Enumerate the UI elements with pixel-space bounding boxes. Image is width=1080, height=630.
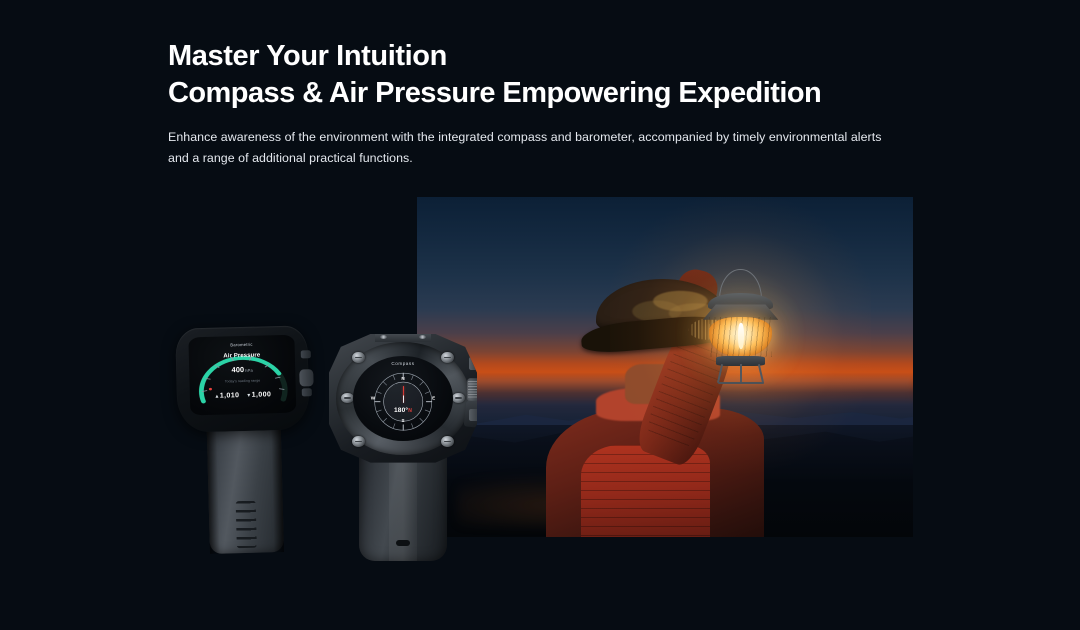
feature-banner: Master Your Intuition Compass & Air Pres… — [0, 0, 1080, 630]
barometer-watch-button-bottom — [301, 388, 312, 397]
copy-block: Master Your Intuition Compass & Air Pres… — [168, 42, 928, 170]
compass-watch-screen: Compass — [353, 356, 454, 441]
barometer-range-low: 1,000 — [252, 391, 272, 399]
compass-needle — [403, 386, 405, 403]
compass-cardinal-north: N — [401, 376, 404, 381]
lug-screw-right — [419, 335, 426, 339]
compass-cardinal-west: W — [371, 396, 375, 401]
lantern-leg-left — [717, 364, 723, 383]
lantern-filament — [738, 323, 744, 350]
lifestyle-photo — [417, 197, 913, 537]
headline-line-2: Compass & Air Pressure Empowering Expedi… — [168, 79, 928, 108]
barometer-watch-screen: Barometric Air Pressure 400hPa Today's r… — [189, 335, 297, 415]
bezel-screw-5 — [352, 436, 365, 447]
compass-watch: Compass — [329, 334, 477, 552]
strap-shadow-left — [206, 417, 219, 555]
lantern-leg-middle — [740, 364, 742, 383]
compass-heading-direction: N — [408, 408, 412, 414]
hiker-puffer-jacket — [581, 445, 710, 537]
compass-screen-title: Compass — [353, 361, 454, 366]
barometer-watch-case: Barometric Air Pressure 400hPa Today's r… — [175, 325, 310, 433]
sub-copy: Enhance awareness of the environment wit… — [168, 127, 898, 170]
strap-holes — [235, 501, 257, 548]
bezel-screw-3 — [341, 393, 354, 404]
barometer-reading-value: 400 — [231, 365, 244, 374]
lantern-foot — [718, 382, 764, 384]
barometer-watch-button-top — [300, 350, 311, 359]
jacket-quilting — [581, 445, 710, 537]
compass-cardinal-east: E — [432, 396, 435, 401]
compass-heading-degrees: 180° — [394, 407, 408, 414]
barometer-watch: Barometric Air Pressure 400hPa Today's r… — [175, 325, 313, 550]
compass-heading: 180°N — [353, 407, 454, 414]
barometer-watch-strap — [206, 415, 283, 555]
compass-watch-case: Compass — [329, 334, 477, 463]
compass-cardinal-south: S — [401, 418, 404, 423]
bezel-screw-4 — [452, 393, 465, 404]
hiker-figure — [417, 197, 913, 537]
bezel-screw-6 — [441, 436, 454, 447]
barometer-reading-unit: hPa — [245, 368, 253, 373]
lug-screw-left — [380, 335, 387, 339]
compass-strap-slot — [396, 540, 410, 545]
barometer-watch-crown — [299, 369, 314, 386]
camping-lantern — [702, 282, 779, 384]
lantern-leg-right — [758, 364, 764, 383]
headline-line-1: Master Your Intuition — [168, 42, 928, 71]
barometer-range-high: 1,010 — [220, 392, 240, 400]
strap-shadow-right — [271, 415, 284, 553]
